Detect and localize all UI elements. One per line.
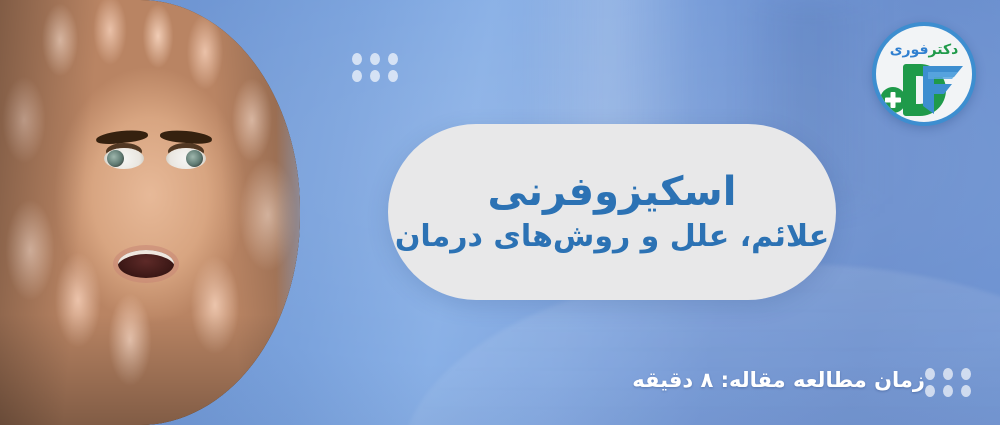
dot-grid-top [352, 53, 398, 80]
title-card: اسکیزوفرنی علائم، علل و روش‌های درمان [388, 124, 836, 300]
dot [925, 385, 935, 397]
article-banner: اسکیزوفرنی علائم، علل و روش‌های درمان زم… [0, 0, 1000, 425]
brand-logo-text: دکترفوری [876, 43, 972, 57]
dot [388, 53, 398, 65]
dot [370, 70, 380, 82]
hero-photo [0, 0, 300, 425]
dot [370, 53, 380, 65]
dot [352, 70, 362, 82]
page-subtitle: علائم، علل و روش‌های درمان [395, 220, 829, 255]
brand-logo[interactable]: دکترفوری [872, 22, 976, 126]
dot [925, 368, 935, 380]
dot [961, 368, 971, 380]
dot [943, 368, 953, 380]
dot [943, 385, 953, 397]
page-title: اسکیزوفرنی [488, 170, 737, 214]
brand-word-doctor: دکتر [929, 42, 959, 58]
dot [961, 385, 971, 397]
brand-word-fori: فوری [890, 42, 929, 58]
hero-photo-shading [0, 0, 300, 425]
hero-photo-edge-glow [276, 0, 300, 425]
reading-time-label: زمان مطالعه مقاله: ۸ دقیقه [632, 368, 925, 392]
brand-logo-mark-icon [876, 60, 972, 122]
plus-icon [880, 87, 906, 113]
dot [388, 70, 398, 82]
dot-grid-bottom [925, 368, 971, 395]
dot [352, 53, 362, 65]
